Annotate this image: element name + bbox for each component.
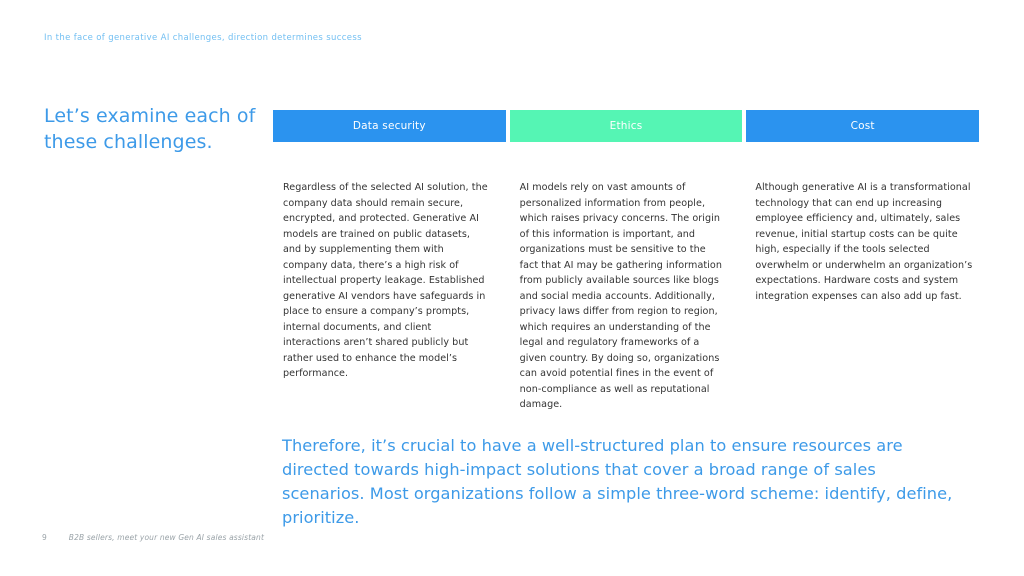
page-title: Let’s examine each of these challenges. [44, 104, 259, 155]
challenge-columns: Data security Regardless of the selected… [273, 110, 979, 413]
column-header-ethics: Ethics [510, 110, 743, 142]
column-body-data-security: Regardless of the selected AI solution, … [273, 142, 506, 382]
slide-footer: 9 B2B sellers, meet your new Gen AI sale… [42, 533, 264, 542]
footer-deck-title: B2B sellers, meet your new Gen AI sales … [69, 533, 264, 542]
slide-eyebrow: In the face of generative AI challenges,… [44, 33, 362, 43]
challenge-column-ethics: Ethics AI models rely on vast amounts of… [510, 110, 743, 413]
challenge-column-cost: Cost Although generative AI is a transfo… [746, 110, 979, 413]
column-body-cost: Although generative AI is a transformati… [746, 142, 979, 304]
footer-page-number: 9 [42, 533, 47, 542]
column-header-cost: Cost [746, 110, 979, 142]
column-header-data-security: Data security [273, 110, 506, 142]
conclusion-paragraph: Therefore, it’s crucial to have a well-s… [282, 434, 954, 531]
column-body-ethics: AI models rely on vast amounts of person… [510, 142, 743, 413]
challenge-column-data-security: Data security Regardless of the selected… [273, 110, 506, 413]
